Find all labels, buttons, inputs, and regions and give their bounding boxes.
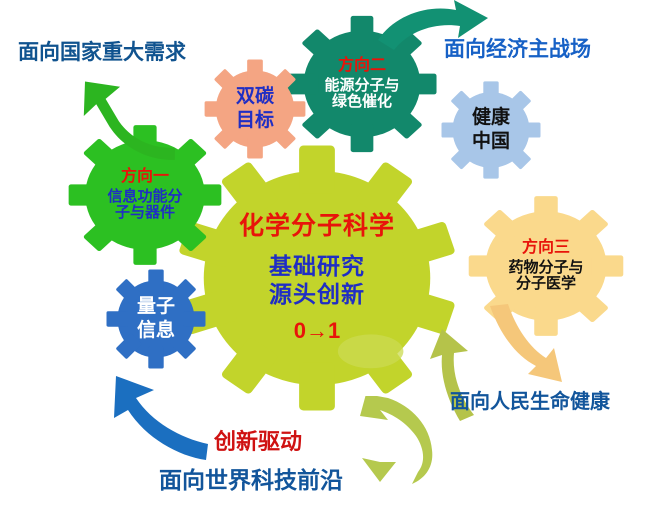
center-gear-title: 化学分子科学 bbox=[239, 212, 395, 240]
caption-world-frontier: 面向世界科技前沿 bbox=[159, 461, 343, 495]
quantum-line2: 信息 bbox=[137, 319, 175, 343]
direction-three-line1: 药物分子与 bbox=[508, 260, 583, 277]
diagram-canvas: 化学分子科学 基础研究 源头创新 0→1 方向一 信息 bbox=[0, 0, 647, 513]
caption-economy-battlefield: 面向经济主战场 bbox=[444, 33, 591, 63]
direction-three-title: 方向三 bbox=[522, 239, 570, 257]
direction-two-line2: 绿色催化 bbox=[332, 94, 392, 111]
direction-one-line1: 信息功能分 bbox=[107, 189, 182, 206]
arrow-down-left-yellowgreen-icon bbox=[336, 396, 446, 491]
center-gear-subtitle-line2: 源头创新 bbox=[269, 280, 365, 308]
center-gear-formula: 0→1 bbox=[294, 319, 340, 344]
healthy-china-line2: 中国 bbox=[472, 130, 510, 154]
arrow-up-left-blue-icon bbox=[84, 360, 214, 470]
healthy-china-line1: 健康 bbox=[472, 106, 510, 130]
healthy-china-gear[interactable]: 健康 中国 bbox=[436, 76, 546, 184]
direction-two-title: 方向二 bbox=[338, 57, 386, 75]
direction-one-line2: 子与器件 bbox=[115, 205, 175, 222]
direction-three-line2: 分子医学 bbox=[516, 276, 576, 293]
arrow-down-right-orange-icon bbox=[472, 300, 567, 395]
direction-two-line1: 能源分子与 bbox=[324, 78, 399, 95]
arrow-up-left-green-icon bbox=[50, 55, 190, 170]
dual-carbon-line1: 双碳 bbox=[236, 85, 274, 109]
caption-people-health: 面向人民生命健康 bbox=[450, 385, 610, 414]
dual-carbon-line2: 目标 bbox=[236, 109, 274, 133]
quantum-line1: 量子 bbox=[137, 295, 175, 319]
caption-innovation-drive: 创新驱动 bbox=[214, 424, 302, 456]
caption-national-demand: 面向国家重大需求 bbox=[18, 36, 186, 66]
center-gear-subtitle-line1: 基础研究 bbox=[269, 252, 365, 280]
direction-one-title: 方向一 bbox=[121, 168, 169, 186]
